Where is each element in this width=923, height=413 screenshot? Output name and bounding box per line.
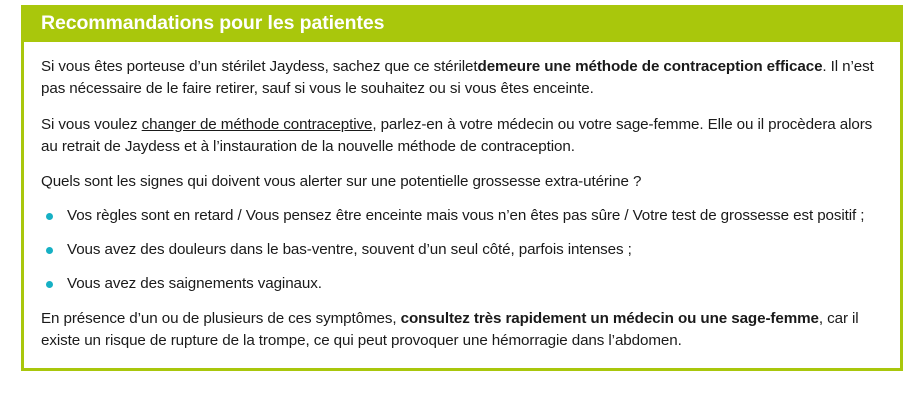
bullet-dot-icon — [46, 247, 53, 254]
panel-title: Recommandations pour les patientes — [41, 14, 384, 34]
paragraph-contraception-efficacy: Si vous êtes porteuse d’un stérilet Jayd… — [41, 56, 884, 101]
warning-signs-question: Quels sont les signes qui doivent vous a… — [41, 171, 884, 193]
paragraph-change-method: Si vous voulez changer de méthode contra… — [41, 114, 884, 159]
list-item: Vos règles sont en retard / Vous pensez … — [41, 205, 884, 227]
list-item: Vous avez des douleurs dans le bas-ventr… — [41, 239, 884, 261]
bullet-dot-icon — [46, 281, 53, 288]
bullet-dot-icon — [46, 213, 53, 220]
warning-signs-list: Vos règles sont en retard / Vous pensez … — [41, 205, 884, 296]
list-item: Vous avez des saignements vaginaux. — [41, 273, 884, 295]
paragraph3-text-part1: En présence d’un ou de plusieurs de ces … — [41, 310, 401, 327]
panel-body: Si vous êtes porteuse d’un stérilet Jayd… — [24, 42, 900, 368]
paragraph3-bold-emphasis: consultez très rapidement un médecin ou … — [401, 310, 819, 327]
panel-header: Recommandations pour les patientes — [21, 5, 903, 42]
paragraph1-bold-emphasis: demeure une méthode de contraception eff… — [478, 58, 823, 75]
change-contraceptive-method-link[interactable]: changer de méthode contraceptive — [142, 116, 373, 133]
paragraph-urgent-advice: En présence d’un ou de plusieurs de ces … — [41, 308, 884, 353]
paragraph2-text-part1: Si vous voulez — [41, 116, 142, 133]
list-item-label: Vous avez des saignements vaginaux. — [67, 275, 322, 292]
paragraph1-text-part1: Si vous êtes porteuse d’un stérilet Jayd… — [41, 58, 478, 75]
list-item-label: Vous avez des douleurs dans le bas-ventr… — [67, 241, 632, 258]
recommendations-panel: Recommandations pour les patientes Si vo… — [21, 5, 903, 371]
list-item-label: Vos règles sont en retard / Vous pensez … — [67, 207, 864, 224]
